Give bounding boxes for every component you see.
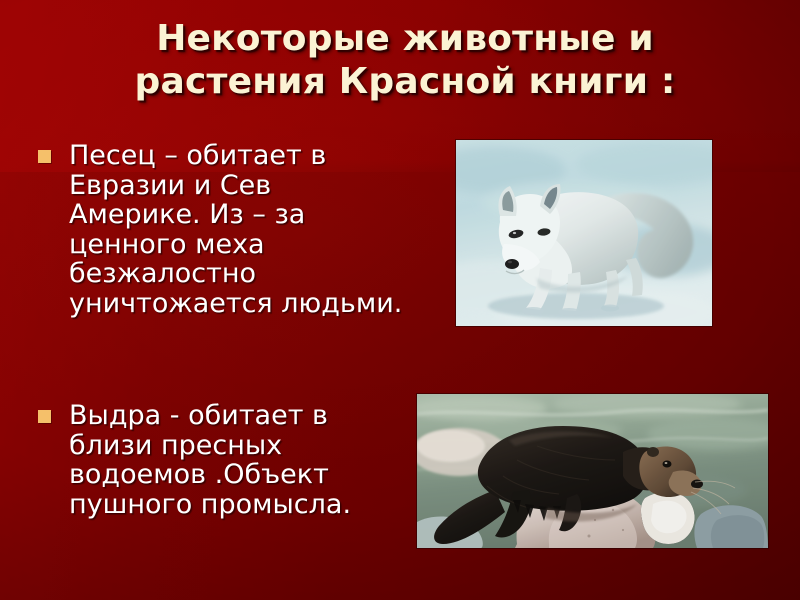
otter-illustration	[417, 394, 768, 548]
square-bullet-icon	[38, 150, 51, 163]
bullet-text-arctic-fox: Песец – обитает в Евразии и Сев Америке.…	[69, 141, 418, 318]
bullet-item-arctic-fox: Песец – обитает в Евразии и Сев Америке.…	[38, 141, 418, 318]
slide-title: Некоторые животные и растения Красной кн…	[60, 17, 750, 103]
bullet-item-otter: Выдра - обитает в близи пресных водоемов…	[38, 401, 418, 519]
square-bullet-icon	[38, 410, 51, 423]
bullet-text-otter: Выдра - обитает в близи пресных водоемов…	[69, 401, 418, 519]
otter-photo	[417, 394, 768, 548]
arctic-fox-photo	[456, 140, 712, 326]
presentation-slide: Некоторые животные и растения Красной кн…	[0, 0, 800, 600]
arctic-fox-illustration	[456, 140, 712, 326]
